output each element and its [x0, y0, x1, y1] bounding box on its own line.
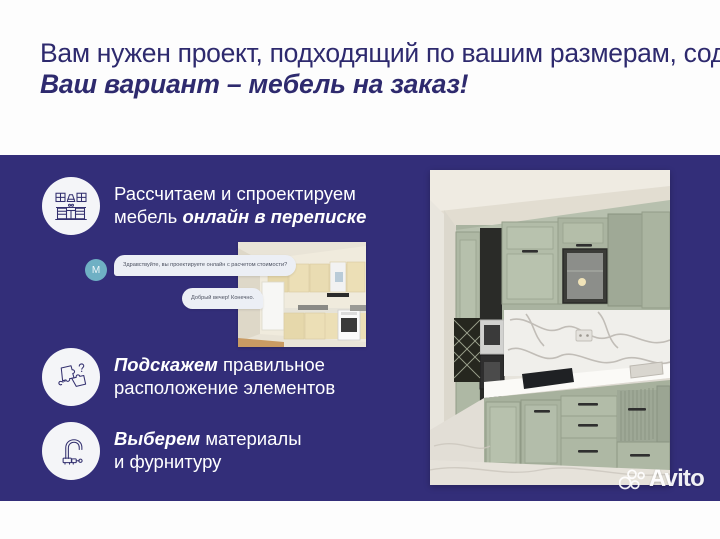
header: Вам нужен проект, подходящий по вашим ра…	[0, 0, 720, 155]
chat-bubble-incoming: Здравствуйте, вы проектируете онлайн с р…	[114, 255, 296, 276]
feature-1-line-2-plain: мебель	[114, 206, 182, 227]
feature-3-line-2: и фурнитуру	[114, 450, 302, 473]
feature-panel: Рассчитаем и спроектируем мебель онлайн …	[0, 155, 720, 501]
promo-banner: Вам нужен проект, подходящий по вашим ра…	[0, 0, 720, 539]
feature-2-line-1-plain: правильное	[218, 354, 325, 375]
footer-strip	[0, 501, 720, 539]
feature-3-emphasis: Выберем	[114, 428, 200, 449]
feature-3-line-1: Выберем материалы	[114, 427, 302, 450]
chat-bubble-outgoing: Добрый вечер! Конечно.	[182, 288, 263, 309]
headline-line-1: Вам нужен проект, подходящий по вашим	[40, 38, 543, 68]
page-title: Вам нужен проект, подходящий по вашим ра…	[40, 38, 680, 100]
feature-3-line-1-plain: материалы	[200, 428, 301, 449]
feature-item-online-design: Рассчитаем и спроектируем мебель онлайн …	[42, 177, 366, 235]
feature-2-emphasis: Подскажем	[114, 354, 218, 375]
feature-1-line-1: Рассчитаем и спроектируем	[114, 182, 366, 205]
avito-watermark: Avito	[619, 465, 704, 493]
feature-2-line-2: расположение элементов	[114, 376, 335, 399]
feature-1-line-2: мебель онлайн в переписке	[114, 205, 366, 228]
kitchen-cabinets-icon	[42, 177, 100, 235]
avito-circles-logo	[619, 469, 645, 490]
headline-line-2: размерам, содержанием и качеству?	[550, 38, 720, 68]
feature-item-layout-advice: Подскажем правильное расположение элемен…	[42, 348, 335, 406]
feature-item-label: Рассчитаем и спроектируем мебель онлайн …	[114, 177, 366, 228]
kitchen-photo	[430, 170, 670, 485]
feature-item-materials: Выберем материалы и фурнитуру	[42, 422, 302, 480]
feature-item-label: Выберем материалы и фурнитуру	[114, 422, 302, 473]
chat-incoming-line-1: Здравствуйте, вы проектируете онлайн	[123, 262, 225, 268]
avatar: M	[85, 259, 107, 281]
chat-incoming-line-2: с расчетом стоимости?	[227, 262, 287, 268]
avito-watermark-label: Avito	[649, 465, 704, 493]
headline-line-3: Ваш вариант – мебель на заказ!	[40, 69, 680, 100]
feature-item-label: Подскажем правильное расположение элемен…	[114, 348, 335, 399]
feature-2-line-1: Подскажем правильное	[114, 353, 335, 376]
feature-1-line-2-emphasis: онлайн в переписке	[182, 206, 366, 227]
puzzle-question-icon	[42, 348, 100, 406]
faucet-icon	[42, 422, 100, 480]
